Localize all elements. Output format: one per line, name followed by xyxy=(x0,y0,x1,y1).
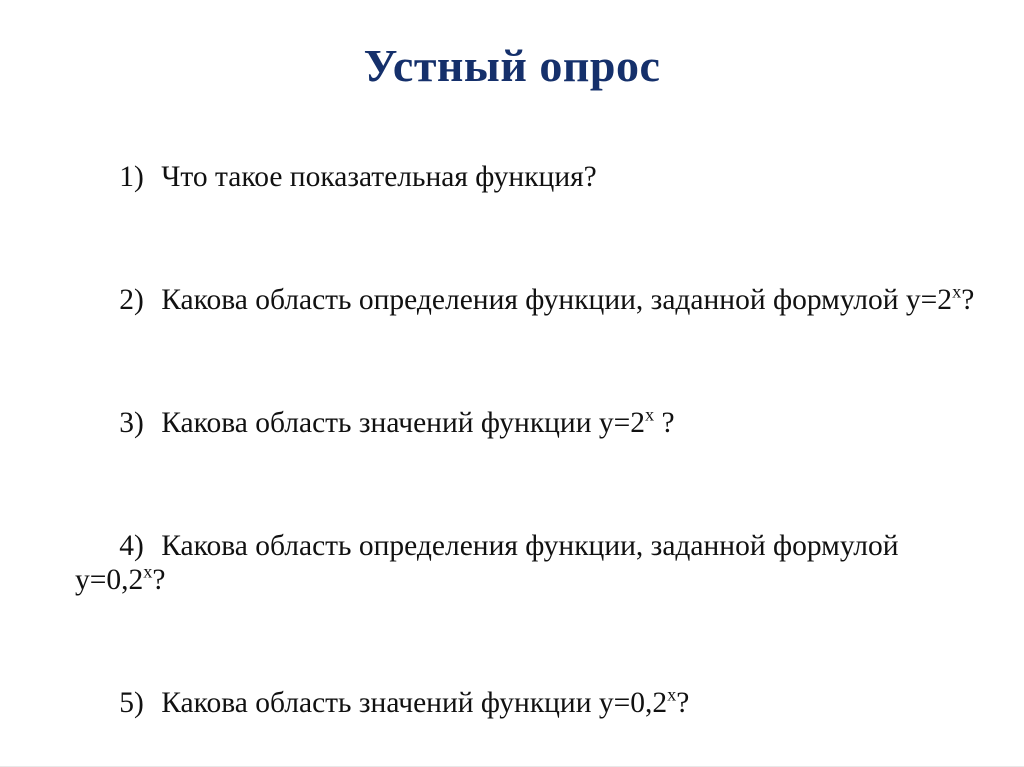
slide: Устный опрос 1)Что такое показательная ф… xyxy=(0,0,1024,767)
superscript-exponent: x xyxy=(952,282,961,302)
list-item-text-before-superscript: Какова область определения функции, зада… xyxy=(161,284,952,316)
list-item: 5)Какова область значений функции y=0,2x… xyxy=(33,652,975,754)
list-item-text-before-superscript: Какова область значений функции y=2 xyxy=(161,407,645,439)
question-list: 1)Что такое показательная функция? 2)Как… xyxy=(33,126,983,767)
list-item-marker: 1) xyxy=(119,160,161,194)
list-item: 2)Какова область определения функции, за… xyxy=(33,249,975,351)
list-item-text: Что такое показательная функция? xyxy=(161,161,597,193)
list-item-text-after-superscript: ? xyxy=(654,407,674,439)
list-item: 4)Какова область определения функции, за… xyxy=(33,495,975,631)
list-item-marker: 2) xyxy=(119,283,161,317)
list-item-marker: 5) xyxy=(119,686,161,720)
list-item-marker: 4) xyxy=(119,529,161,563)
list-item-text-after-superscript: ? xyxy=(676,687,689,719)
list-item-text-before-superscript: Какова область значений функции y=0,2 xyxy=(161,687,667,719)
superscript-exponent: x xyxy=(667,685,676,705)
list-item-marker: 3) xyxy=(119,406,161,440)
list-item: 1)Что такое показательная функция? xyxy=(33,126,975,228)
superscript-exponent: x xyxy=(645,405,654,425)
list-item-text-after-superscript: ? xyxy=(961,284,974,316)
list-item: 3)Какова область значений функции y=2x ? xyxy=(33,372,975,474)
page-title: Устный опрос xyxy=(0,38,1024,94)
list-item-text-after-superscript: ? xyxy=(152,564,165,596)
list-item-text-before-superscript: Какова область определения функции, зада… xyxy=(75,530,906,596)
